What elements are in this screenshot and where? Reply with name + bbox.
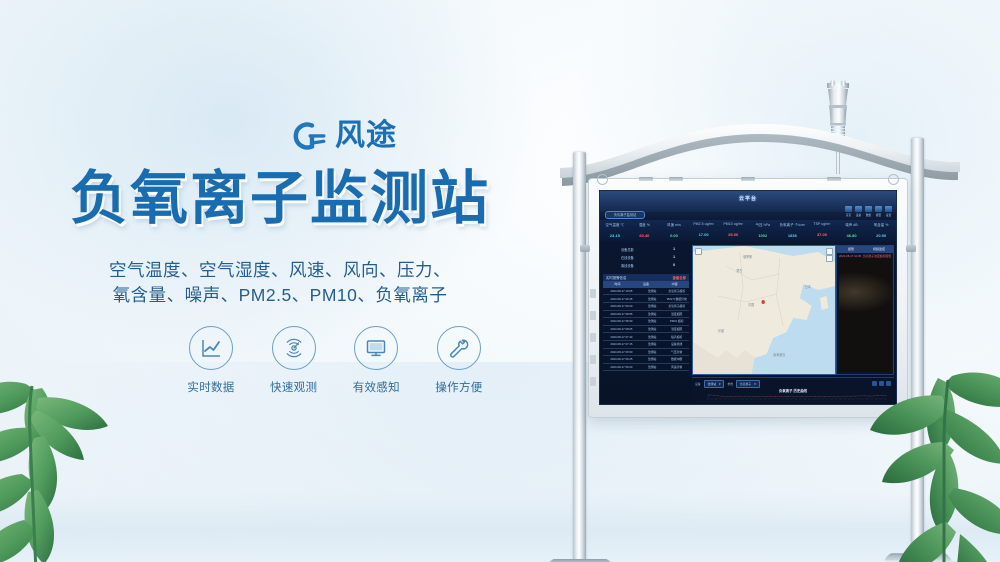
table-cell: 监测站 bbox=[640, 288, 665, 295]
svg-text:10:30: 10:30 bbox=[799, 399, 804, 400]
station-selector[interactable]: 负氧离子监测站 bbox=[605, 211, 645, 219]
panel-lug-4 bbox=[590, 355, 596, 364]
svg-text:中国: 中国 bbox=[748, 302, 754, 307]
alarm-panel-header: 实时报警信息 查看全部 bbox=[603, 274, 689, 281]
metric-strip: 空气温度 ℃23.15湿度 %60.40风速 m/s0.00PM2.5 ug/m… bbox=[600, 220, 896, 242]
metric-label: 氧含量 % bbox=[866, 222, 896, 227]
toolbar-item-settings[interactable]: 设置 bbox=[885, 206, 892, 217]
data-icon bbox=[865, 206, 872, 212]
metric-label: TSP ug/m³ bbox=[807, 222, 837, 226]
metric-value: 20.90 bbox=[866, 233, 896, 238]
table-column-header: 内容 bbox=[660, 281, 689, 288]
plant-decoration-left bbox=[0, 342, 170, 562]
svg-text:09:00: 09:00 bbox=[785, 399, 790, 400]
metric-label: 空气温度 ℃ bbox=[600, 222, 630, 227]
svg-text:06:30: 06:30 bbox=[763, 399, 768, 400]
metric-card: PM2.5 ug/m³17.00 bbox=[689, 220, 719, 242]
device-icon bbox=[855, 206, 862, 212]
wrench-icon bbox=[437, 326, 481, 370]
table-row[interactable]: 2023-08-17 06:25监测站数据中断 bbox=[603, 356, 689, 364]
table-row[interactable]: 2023-08-17 08:05监测站湿度超限 bbox=[603, 326, 689, 334]
metric-label: PM10 ug/m³ bbox=[718, 222, 748, 226]
sensor-list-line-1: 空气温度、空气湿度、风速、风向、压力、 bbox=[40, 258, 520, 283]
table-cell: 2023-08-17 06:50 bbox=[603, 349, 640, 356]
chevron-down-icon: ▾ bbox=[719, 382, 720, 386]
svg-text:15:00: 15:00 bbox=[839, 399, 844, 400]
svg-text:14:30: 14:30 bbox=[834, 399, 839, 400]
metric-value: 23.15 bbox=[600, 233, 630, 238]
map-zoom-out-button[interactable] bbox=[826, 255, 833, 262]
chart-device-label: 设备 bbox=[695, 382, 701, 386]
metric-value: 60.40 bbox=[630, 233, 660, 238]
metric-label: 风速 m/s bbox=[659, 222, 689, 227]
kpi-value: 1 bbox=[673, 255, 675, 259]
metric-label: 气压 hPa bbox=[748, 222, 778, 227]
toolbar-item-device[interactable]: 设备 bbox=[855, 206, 862, 217]
table-cell: PM10 超标 bbox=[664, 318, 689, 325]
feature-item-effective-sensing[interactable]: 有效感知 bbox=[345, 326, 407, 395]
promo-banner: 风途 负氧离子监测站 空气温度、空气湿度、风速、风向、压力、 氧含量、噪声、PM… bbox=[0, 0, 1000, 562]
dashboard-toolbar: 首页 设备 数据 报警 bbox=[845, 206, 892, 217]
metric-card: 气压 hPa1002 bbox=[748, 220, 778, 242]
table-cell: 监测站 bbox=[640, 318, 665, 325]
table-cell: 监测站 bbox=[640, 311, 665, 318]
svg-text:09:30: 09:30 bbox=[790, 399, 795, 400]
svg-text:05:00: 05:00 bbox=[750, 399, 755, 400]
panel-lug-3 bbox=[590, 333, 596, 342]
svg-text:02:00: 02:00 bbox=[723, 399, 728, 400]
table-cell: 风速异常 bbox=[664, 364, 689, 371]
svg-text:06:00: 06:00 bbox=[759, 399, 764, 400]
metric-card: 空气温度 ℃23.15 bbox=[600, 220, 630, 242]
svg-text:13:00: 13:00 bbox=[821, 399, 826, 400]
table-cell: 监测站 bbox=[640, 333, 665, 340]
svg-text:02:30: 02:30 bbox=[728, 399, 733, 400]
line-chart-icon bbox=[189, 326, 233, 370]
feature-item-easy-operation[interactable]: 操作方便 bbox=[428, 326, 490, 395]
svg-text:08:30: 08:30 bbox=[781, 399, 786, 400]
metric-value: 25.00 bbox=[718, 232, 748, 237]
table-cell: 2023-08-17 09:20 bbox=[603, 303, 640, 310]
svg-text:印度: 印度 bbox=[718, 328, 725, 333]
map-zoom-in-button[interactable] bbox=[826, 248, 833, 255]
brand-logo: 风途 bbox=[286, 116, 397, 156]
metric-card: TSP ug/m³37.00 bbox=[807, 220, 837, 242]
feature-list: 实时数据 快速观测 bbox=[180, 326, 490, 395]
left-panel: 设备总数 1 在线设备 1 离线设备 0 bbox=[603, 245, 689, 374]
table-cell: 湿度超限 bbox=[664, 326, 689, 333]
side-knob-right bbox=[906, 245, 916, 252]
table-row[interactable]: 2023-08-17 08:55监测站温度超限 bbox=[603, 311, 689, 319]
metric-value: 17.00 bbox=[689, 232, 719, 237]
hanger-ring-right bbox=[888, 174, 899, 185]
table-cell: 设备离线 bbox=[664, 341, 689, 348]
feature-label: 快速观测 bbox=[270, 379, 317, 395]
chart-device-value: 监测站 bbox=[708, 382, 716, 386]
kpi-value: 0 bbox=[673, 263, 675, 267]
table-cell: 噪声超标 bbox=[664, 333, 689, 340]
metric-value: 1002 bbox=[748, 233, 778, 238]
mount-bolt-1 bbox=[639, 177, 653, 181]
table-cell: 监测站 bbox=[640, 303, 665, 310]
table-row[interactable]: 2023-08-17 10:05监测站负氧离子超标 bbox=[603, 288, 689, 296]
china-map[interactable]: 俄罗斯蒙古 中国印度 日本南海诸岛 bbox=[692, 245, 836, 375]
toolbar-label: 报警 bbox=[876, 213, 881, 217]
panel-lug-1 bbox=[590, 289, 596, 298]
metric-card: 噪声 dB46.80 bbox=[837, 220, 867, 242]
table-row[interactable]: 2023-08-17 06:50监测站气压异常 bbox=[603, 349, 689, 357]
table-row[interactable]: 2023-08-17 07:40监测站噪声超标 bbox=[603, 333, 689, 341]
table-column-header: 时间 bbox=[603, 281, 632, 288]
table-cell: 监测站 bbox=[640, 349, 665, 356]
chart-param-label: 参数 bbox=[727, 382, 733, 386]
svg-text:14:00: 14:00 bbox=[830, 399, 835, 400]
brand-name: 风途 bbox=[335, 121, 397, 151]
table-cell: 监测站 bbox=[640, 341, 665, 348]
svg-text:05:30: 05:30 bbox=[754, 399, 759, 400]
kpi-label: 在线设备 bbox=[621, 255, 634, 260]
svg-text:01:00: 01:00 bbox=[714, 399, 719, 400]
svg-text:03:30: 03:30 bbox=[737, 399, 742, 400]
table-cell: 2023-08-17 06:00 bbox=[603, 364, 640, 371]
metric-card: 风速 m/s0.00 bbox=[659, 220, 689, 242]
metric-label: PM2.5 ug/m³ bbox=[689, 222, 719, 226]
table-cell: 温度超限 bbox=[664, 311, 689, 318]
panel-lug-5 bbox=[590, 377, 596, 386]
svg-text:俄罗斯: 俄罗斯 bbox=[743, 254, 753, 259]
svg-text:08:00: 08:00 bbox=[777, 399, 782, 400]
table-cell: 监测站 bbox=[640, 326, 665, 333]
side-knob-left bbox=[580, 245, 590, 252]
table-cell: 2023-08-17 06:25 bbox=[603, 356, 640, 363]
feature-item-realtime-data[interactable]: 实时数据 bbox=[180, 326, 242, 395]
svg-text:00:00: 00:00 bbox=[705, 399, 710, 400]
table-cell: 2023-08-17 07:40 bbox=[603, 333, 640, 340]
toolbar-item-data[interactable]: 数据 bbox=[865, 206, 872, 217]
table-row[interactable]: 2023-08-17 08:30监测站PM10 超标 bbox=[603, 318, 689, 326]
table-cell: 2023-08-17 10:05 bbox=[603, 288, 640, 295]
svg-text:03:00: 03:00 bbox=[732, 399, 737, 400]
metric-value: 37.00 bbox=[807, 232, 837, 237]
table-cell: 负氧离子超标 bbox=[664, 288, 689, 295]
svg-text:13:30: 13:30 bbox=[825, 399, 830, 400]
table-row[interactable]: 2023-08-17 09:20监测站负氧离子超标 bbox=[603, 303, 689, 311]
svg-text:11:00: 11:00 bbox=[803, 399, 808, 400]
alarm-view-all-link[interactable]: 查看全部 bbox=[672, 275, 686, 280]
toolbar-label: 设备 bbox=[856, 213, 861, 217]
svg-text:南海诸岛: 南海诸岛 bbox=[773, 352, 786, 357]
chart-device-select[interactable]: 监测站 ▾ bbox=[704, 380, 725, 388]
wind-g-logo-icon bbox=[286, 116, 328, 156]
svg-text:日本: 日本 bbox=[805, 284, 812, 289]
svg-text:01:30: 01:30 bbox=[719, 399, 724, 400]
table-row[interactable]: 2023-08-17 09:45监测站PM2.5 数据异常 bbox=[603, 295, 689, 303]
toolbar-label: 数据 bbox=[866, 213, 871, 217]
metric-card: 湿度 %60.40 bbox=[630, 220, 660, 242]
kpi-label: 设备总数 bbox=[621, 247, 634, 252]
svg-text:12:30: 12:30 bbox=[817, 399, 822, 400]
hanger-ring-left bbox=[597, 174, 608, 185]
svg-text:04:00: 04:00 bbox=[741, 399, 746, 400]
kpi-item: 在线设备 1 bbox=[603, 253, 689, 261]
svg-text:12:00: 12:00 bbox=[812, 399, 817, 400]
mount-bolt-2 bbox=[669, 177, 683, 181]
feature-label: 实时数据 bbox=[187, 379, 234, 395]
sensor-list: 空气温度、空气湿度、风速、风向、压力、 氧含量、噪声、PM2.5、PM10、负氧… bbox=[40, 258, 520, 308]
svg-text:10:00: 10:00 bbox=[794, 399, 799, 400]
metric-card: 氧含量 %20.90 bbox=[866, 220, 896, 242]
table-cell: 2023-08-17 08:30 bbox=[603, 318, 640, 325]
table-row[interactable]: 2023-08-17 07:15监测站设备离线 bbox=[603, 341, 689, 349]
svg-text:04:30: 04:30 bbox=[745, 399, 750, 400]
feature-item-fast-observation[interactable]: 快速观测 bbox=[263, 326, 325, 395]
table-cell: 负氧离子超标 bbox=[664, 303, 689, 310]
metric-label: 噪声 dB bbox=[837, 222, 867, 227]
svg-text:07:30: 07:30 bbox=[772, 399, 777, 400]
map-layer-button[interactable] bbox=[695, 248, 702, 255]
alarm-panel-title: 实时报警信息 bbox=[606, 275, 626, 280]
table-cell: 2023-08-17 07:15 bbox=[603, 341, 640, 348]
metric-value: 1836 bbox=[778, 233, 808, 238]
table-cell: 数据中断 bbox=[664, 356, 689, 363]
table-cell: 2023-08-17 08:05 bbox=[603, 326, 640, 333]
alarm-table-body: 2023-08-17 10:05监测站负氧离子超标2023-08-17 09:4… bbox=[603, 288, 689, 372]
table-cell: 监测站 bbox=[640, 364, 665, 371]
feature-label: 操作方便 bbox=[435, 379, 482, 395]
svg-text:11:30: 11:30 bbox=[808, 399, 813, 400]
tab-alarm[interactable]: 报警 bbox=[837, 246, 865, 253]
toolbar-label: 首页 bbox=[846, 213, 851, 217]
metric-card: PM10 ug/m³25.00 bbox=[718, 220, 748, 242]
metric-label: 湿度 % bbox=[630, 222, 660, 227]
table-cell: 监测站 bbox=[640, 295, 665, 302]
svg-text:07:00: 07:00 bbox=[768, 399, 773, 400]
kpi-value: 1 bbox=[673, 247, 675, 251]
table-cell: 2023-08-17 08:55 bbox=[603, 311, 640, 318]
toolbar-label: 设置 bbox=[886, 213, 891, 217]
table-cell: 气压异常 bbox=[664, 349, 689, 356]
chart-param-select[interactable]: 负氧离子 ▾ bbox=[736, 380, 760, 388]
dashboard-title: 云平台 bbox=[600, 195, 896, 202]
kpi-item: 设备总数 1 bbox=[603, 245, 689, 253]
home-icon bbox=[845, 206, 852, 212]
table-column-header: 设备 bbox=[632, 281, 661, 288]
feature-label: 有效感知 bbox=[353, 379, 400, 395]
kpi-item: 离线设备 0 bbox=[603, 261, 689, 269]
gear-icon bbox=[885, 206, 892, 212]
kpi-list: 设备总数 1 在线设备 1 离线设备 0 bbox=[603, 245, 689, 269]
metric-value: 46.80 bbox=[837, 233, 867, 238]
table-cell: PM2.5 数据异常 bbox=[664, 295, 689, 302]
plant-decoration-right bbox=[848, 346, 1000, 562]
alarm-icon bbox=[875, 206, 882, 212]
toolbar-item-alarm[interactable]: 报警 bbox=[875, 206, 882, 217]
chevron-down-icon: ▾ bbox=[754, 382, 755, 386]
mount-bolt-4 bbox=[827, 177, 841, 181]
table-cell: 监测站 bbox=[640, 356, 665, 363]
chart-param-value: 负氧离子 bbox=[740, 382, 751, 386]
svg-text:00:30: 00:30 bbox=[710, 399, 715, 400]
panel-lug-2 bbox=[590, 311, 596, 320]
kpi-label: 离线设备 bbox=[621, 263, 634, 268]
sensor-list-line-2: 氧含量、噪声、PM2.5、PM10、负氧离子 bbox=[40, 283, 520, 308]
mount-bolt-3 bbox=[741, 177, 755, 181]
table-cell: 2023-08-17 09:45 bbox=[603, 295, 640, 302]
tab-video[interactable]: 视频监控 bbox=[865, 246, 893, 253]
table-row[interactable]: 2023-08-17 06:00监测站风速异常 bbox=[603, 364, 689, 372]
support-post-left bbox=[573, 152, 586, 562]
page-title: 负氧离子监测站 bbox=[0, 170, 560, 228]
right-panel-tabs: 报警 视频监控 bbox=[837, 246, 893, 253]
metric-value: 0.00 bbox=[659, 233, 689, 238]
metric-label: 负氧离子 个/cm³ bbox=[778, 222, 808, 227]
monitor-icon bbox=[354, 326, 398, 370]
alarm-table-header: 时间设备内容 bbox=[603, 281, 689, 288]
toolbar-item-home[interactable]: 首页 bbox=[845, 206, 852, 217]
svg-text:蒙古: 蒙古 bbox=[736, 268, 743, 273]
radar-signal-icon bbox=[272, 326, 316, 370]
metric-card: 负氧离子 个/cm³1836 bbox=[778, 220, 808, 242]
